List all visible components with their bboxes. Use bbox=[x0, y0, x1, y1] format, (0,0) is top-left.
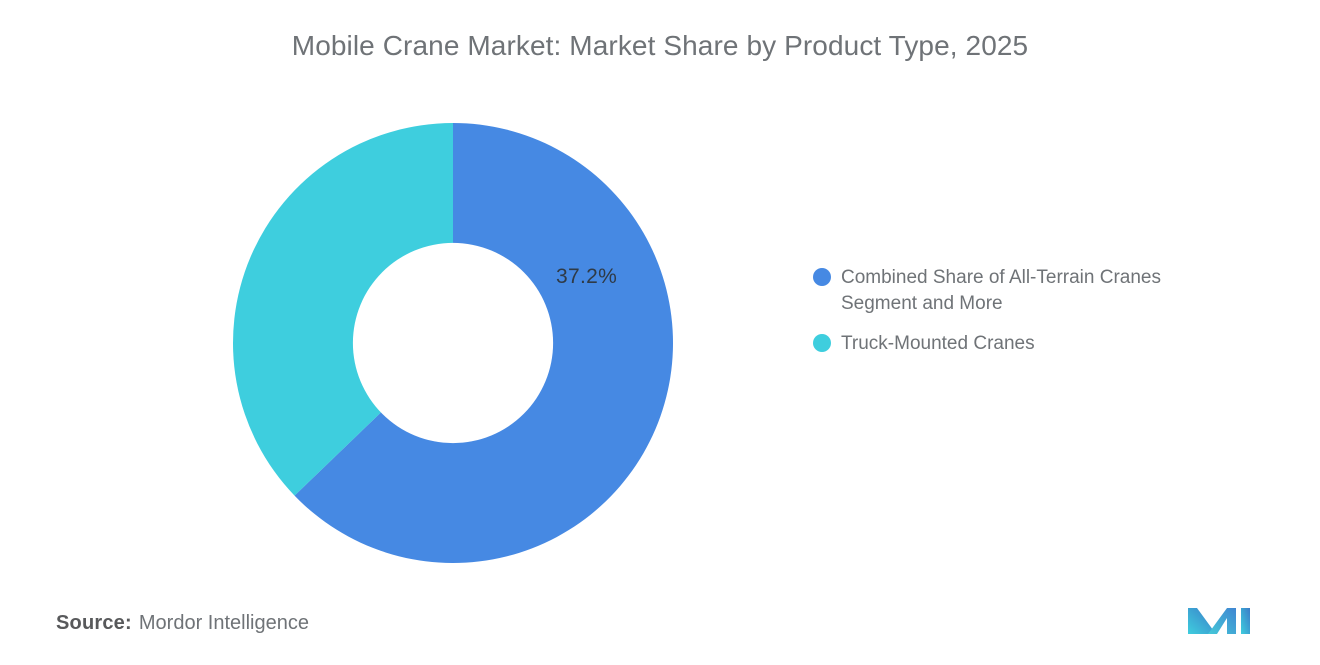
legend-item-combined-share[interactable]: Combined Share of All-Terrain Cranes Seg… bbox=[813, 265, 1283, 317]
donut-chart bbox=[230, 120, 676, 566]
legend-item-truck-mounted[interactable]: Truck-Mounted Cranes bbox=[813, 331, 1283, 357]
chart-legend: Combined Share of All-Terrain Cranes Seg… bbox=[813, 265, 1283, 371]
source-line: Source:Mordor Intelligence bbox=[56, 612, 309, 635]
donut-chart-svg bbox=[230, 120, 676, 566]
legend-swatch-combined-share bbox=[813, 268, 831, 286]
logo-stroke-right bbox=[1241, 608, 1250, 634]
source-value: Mordor Intelligence bbox=[139, 612, 309, 634]
donut-center-hole bbox=[353, 243, 553, 443]
legend-label-combined-share: Combined Share of All-Terrain Cranes Seg… bbox=[841, 265, 1241, 317]
logo-stroke-mid bbox=[1208, 608, 1236, 634]
legend-swatch-truck-mounted bbox=[813, 334, 831, 352]
legend-label-truck-mounted: Truck-Mounted Cranes bbox=[841, 331, 1035, 357]
mordor-intelligence-logo bbox=[1186, 598, 1256, 640]
source-label: Source: bbox=[56, 612, 132, 634]
donut-slice-label-truck-mounted: 37.2% bbox=[556, 265, 617, 289]
page-title: Mobile Crane Market: Market Share by Pro… bbox=[0, 30, 1320, 62]
